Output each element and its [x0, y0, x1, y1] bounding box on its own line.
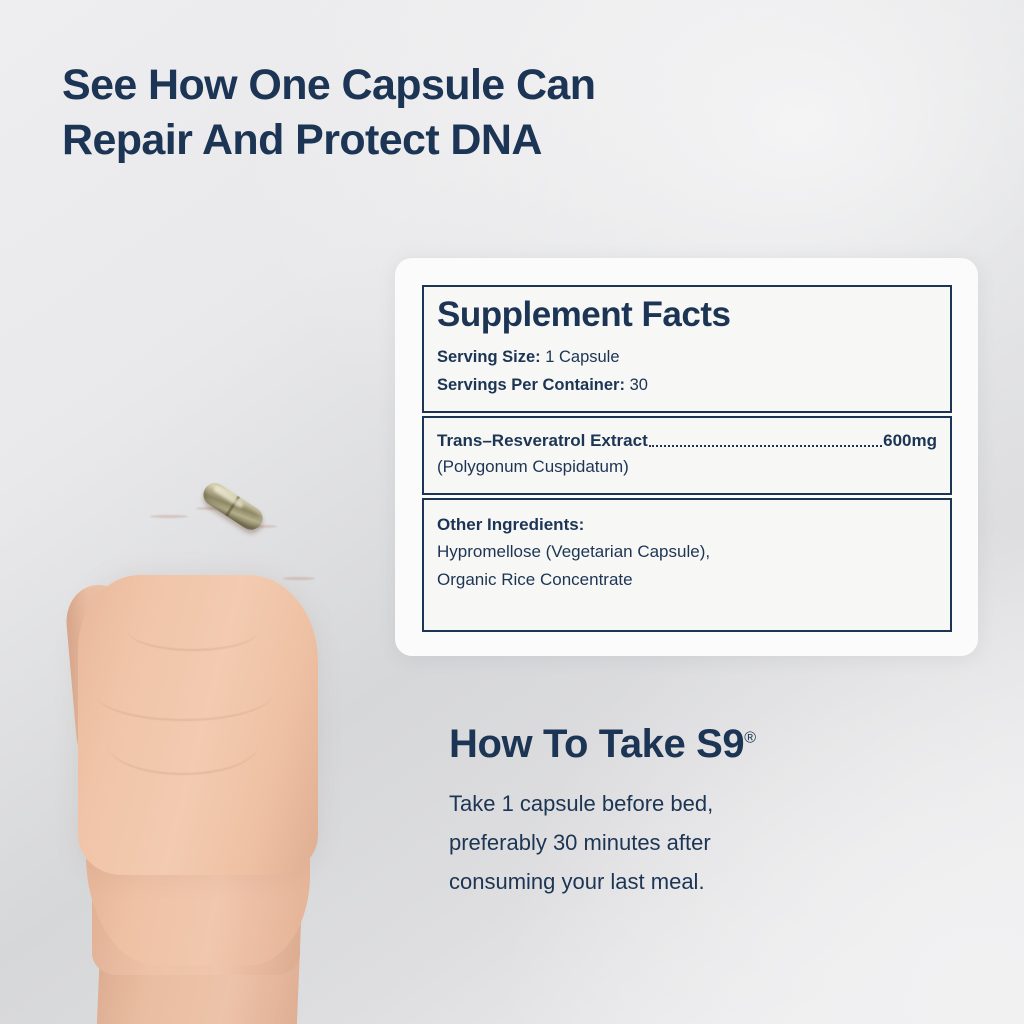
how-to-take-instructions: Take 1 capsule before bed, preferably 30… [449, 784, 819, 901]
hand-holding-capsule-image [0, 185, 400, 1024]
servings-per-container-label: Servings Per Container: [437, 376, 625, 394]
headline-line-1: See How One Capsule Can [62, 58, 782, 113]
headline-line-2: Repair And Protect DNA [62, 113, 782, 168]
how-to-take-section: How To Take S9® Take 1 capsule before be… [449, 722, 969, 901]
active-ingredient-section: Trans–Resveratrol Extract 600mg (Polygon… [422, 416, 952, 495]
facts-header-section: Supplement Facts Serving Size: 1 Capsule… [422, 285, 952, 413]
instruction-line-1: Take 1 capsule before bed, [449, 784, 819, 823]
palm-crease-3 [128, 611, 258, 651]
supplement-facts-title: Supplement Facts [437, 297, 937, 334]
ingredient-amount: 600mg [883, 430, 937, 453]
product-info-page: See How One Capsule Can Repair And Prote… [0, 0, 1024, 1024]
dotted-leader [649, 445, 882, 447]
ingredient-row: Trans–Resveratrol Extract 600mg [437, 430, 937, 453]
other-ingredients-label: Other Ingredients: [437, 512, 937, 538]
registered-trademark-icon: ® [744, 730, 755, 747]
supplement-facts-card: Supplement Facts Serving Size: 1 Capsule… [395, 258, 978, 656]
other-ingredients-section: Other Ingredients: Hypromellose (Vegetar… [422, 498, 952, 632]
serving-size-value: 1 Capsule [545, 348, 619, 366]
palm-crease-2 [108, 715, 258, 775]
servings-per-container-value: 30 [630, 376, 648, 394]
other-ingredients-line-2: Organic Rice Concentrate [437, 566, 937, 594]
serving-size-row: Serving Size: 1 Capsule [437, 343, 937, 371]
palm-crease-1 [96, 667, 272, 721]
pinky-knuckle-crease [283, 577, 315, 580]
ingredient-source: (Polygonum Cuspidatum) [437, 454, 937, 480]
serving-size-label: Serving Size: [437, 348, 541, 366]
instruction-line-2: preferably 30 minutes after [449, 823, 819, 862]
palm [78, 575, 318, 875]
supplement-facts-table: Supplement Facts Serving Size: 1 Capsule… [422, 285, 952, 632]
other-ingredients-line-1: Hypromellose (Vegetarian Capsule), [437, 538, 937, 566]
ingredient-name: Trans–Resveratrol Extract [437, 430, 648, 453]
instruction-line-3: consuming your last meal. [449, 862, 819, 901]
how-to-take-title-text: How To Take S9 [449, 722, 744, 766]
servings-per-container-row: Servings Per Container: 30 [437, 371, 937, 399]
how-to-take-title: How To Take S9® [449, 722, 969, 766]
index-knuckle-crease [150, 515, 188, 518]
page-headline: See How One Capsule Can Repair And Prote… [62, 58, 782, 168]
